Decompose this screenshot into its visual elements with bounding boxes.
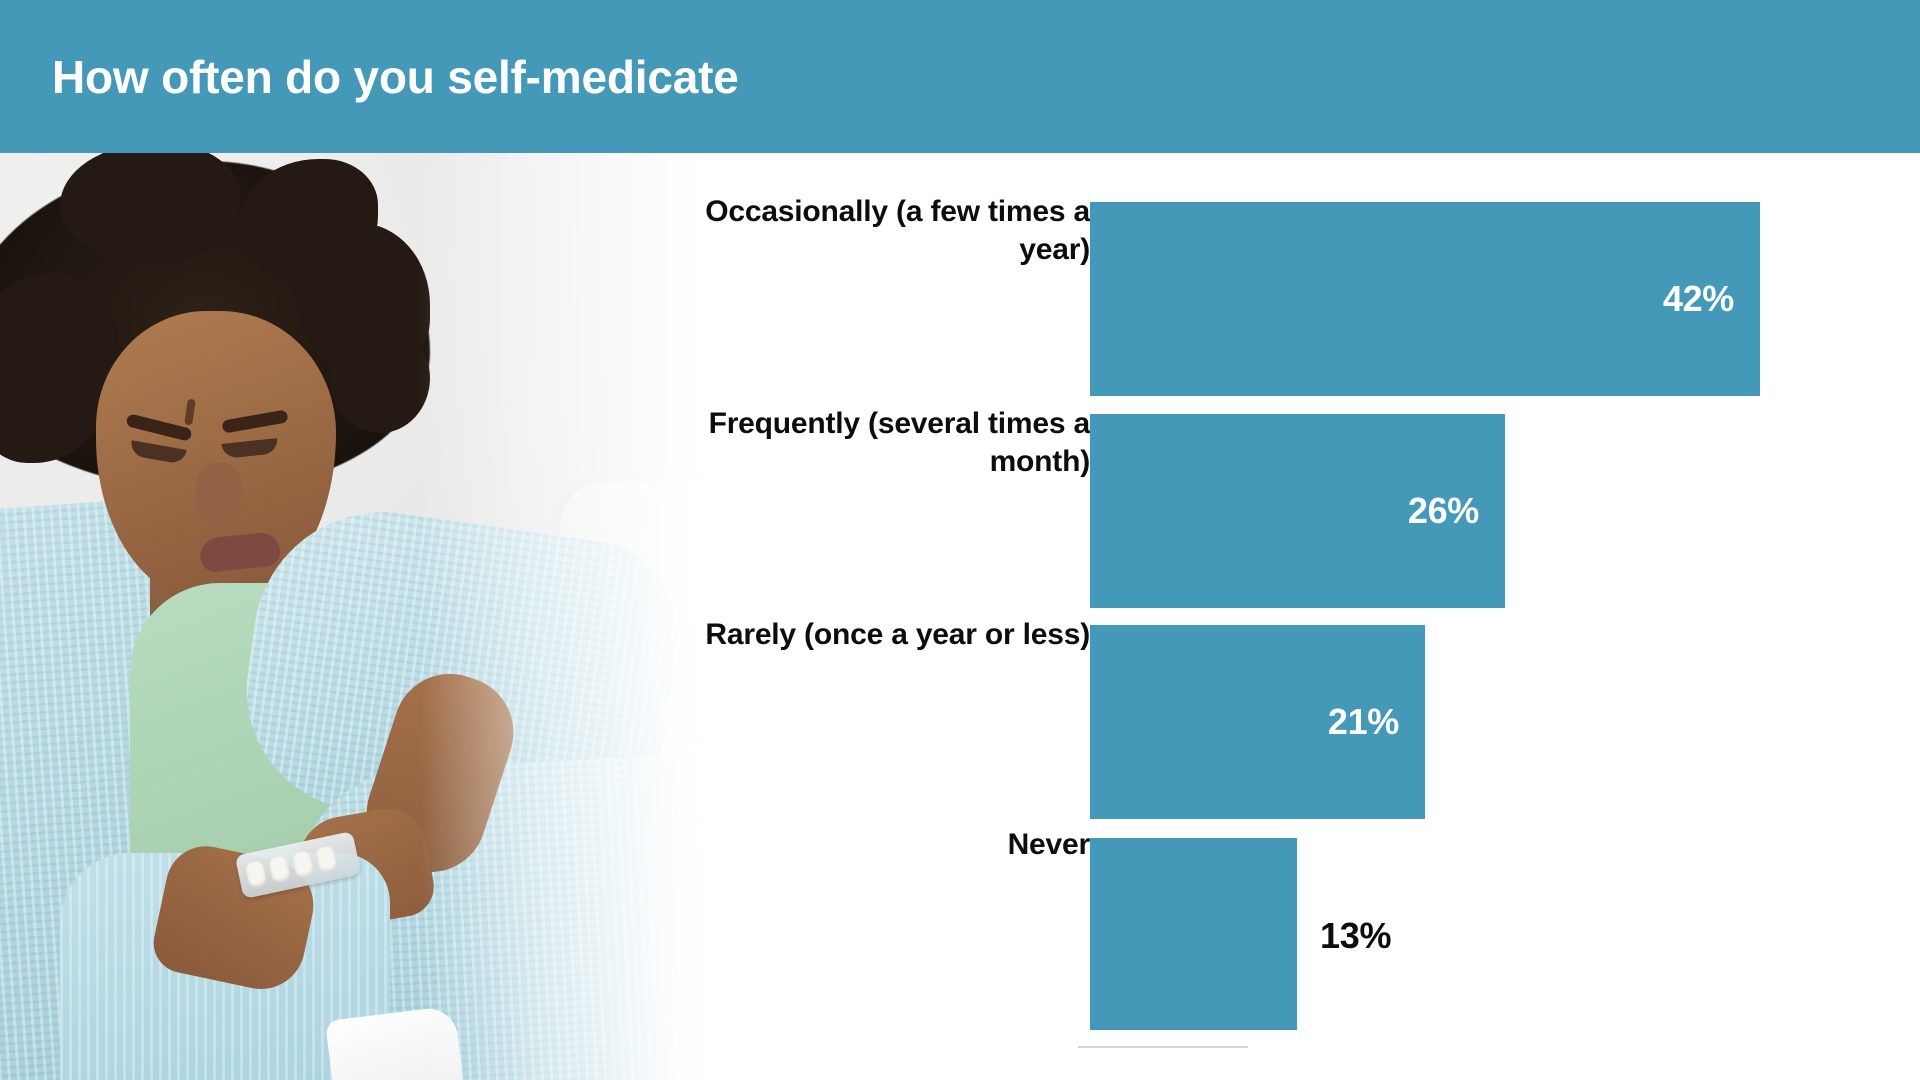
bar-value-label: 26%	[1408, 490, 1505, 532]
bar-category-label: Occasionally (a few times a year)	[670, 193, 1090, 269]
pill	[315, 845, 338, 873]
pill	[245, 860, 268, 888]
bar-rarely[interactable]: 21%	[1090, 625, 1425, 819]
bar-category-label: Never	[670, 826, 1090, 864]
header-band: How often do you self-medicate	[0, 0, 1920, 153]
hair-wisp	[60, 153, 240, 263]
bar-occasionally[interactable]: 42%	[1090, 202, 1760, 396]
bar-frequently[interactable]: 26%	[1090, 414, 1505, 608]
bar-value-label: 42%	[1663, 278, 1760, 320]
bar-chart: Occasionally (a few times a year) 42% Fr…	[720, 153, 1920, 1080]
bar-never[interactable]	[1090, 838, 1297, 1030]
axis-baseline-tick	[1078, 1046, 1248, 1048]
bar-value-label: 13%	[1320, 915, 1391, 957]
nose	[196, 463, 242, 525]
photo-illustration	[0, 153, 720, 1080]
bar-value-label: 21%	[1328, 701, 1425, 743]
hair-wisp	[330, 323, 430, 433]
pill	[268, 855, 291, 883]
slide-body: Occasionally (a few times a year) 42% Fr…	[0, 153, 1920, 1080]
bar-category-label: Frequently (several times a month)	[670, 405, 1090, 481]
page-title: How often do you self-medicate	[52, 50, 739, 104]
bar-category-label: Rarely (once a year or less)	[670, 616, 1090, 654]
pill	[292, 850, 315, 878]
slide-root: How often do you self-medicate	[0, 0, 1920, 1080]
